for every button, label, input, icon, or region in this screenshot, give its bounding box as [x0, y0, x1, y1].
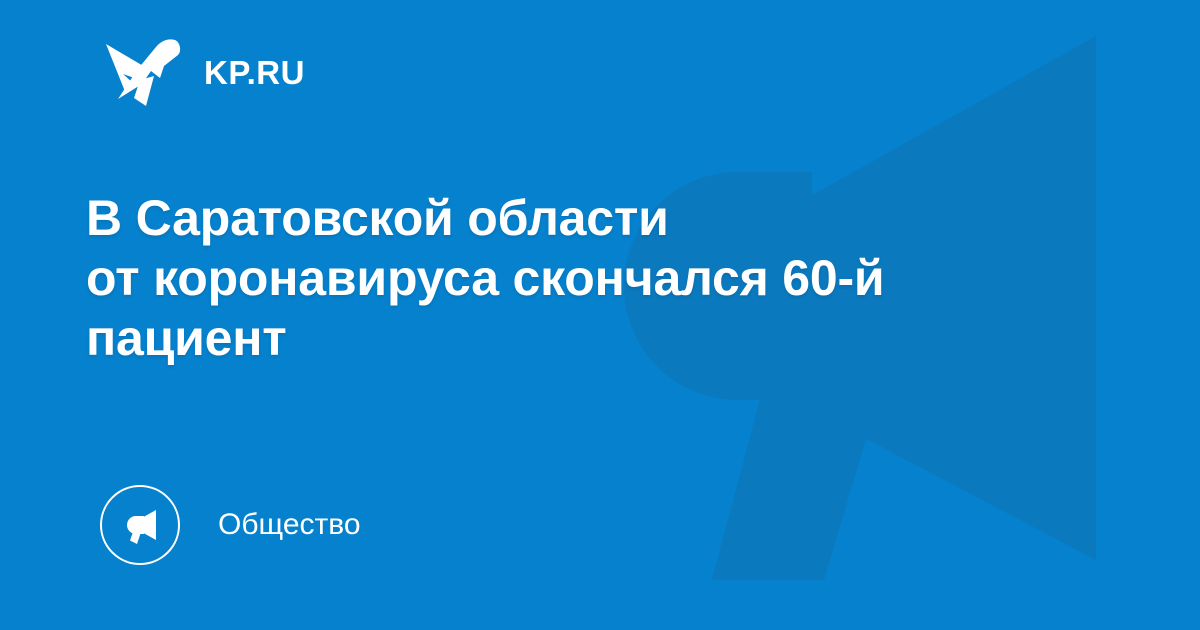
headline-line-1: В Саратовской области — [86, 188, 1106, 248]
rubric[interactable]: Общество — [100, 485, 361, 565]
megaphone-icon — [119, 504, 161, 546]
rubric-label: Общество — [218, 510, 361, 540]
headline-line-3: пациент — [86, 308, 1106, 368]
rubric-badge[interactable] — [100, 485, 180, 565]
share-card: KP.RU В Саратовской области от коронавир… — [0, 0, 1200, 630]
swallow-bird-icon — [104, 36, 182, 108]
brand-name: KP.RU — [204, 56, 305, 89]
brand-logo[interactable]: KP.RU — [104, 36, 305, 108]
headline-line-2: от коронавируса скончался 60-й — [86, 248, 1106, 308]
headline: В Саратовской области от коронавируса ск… — [86, 188, 1106, 368]
